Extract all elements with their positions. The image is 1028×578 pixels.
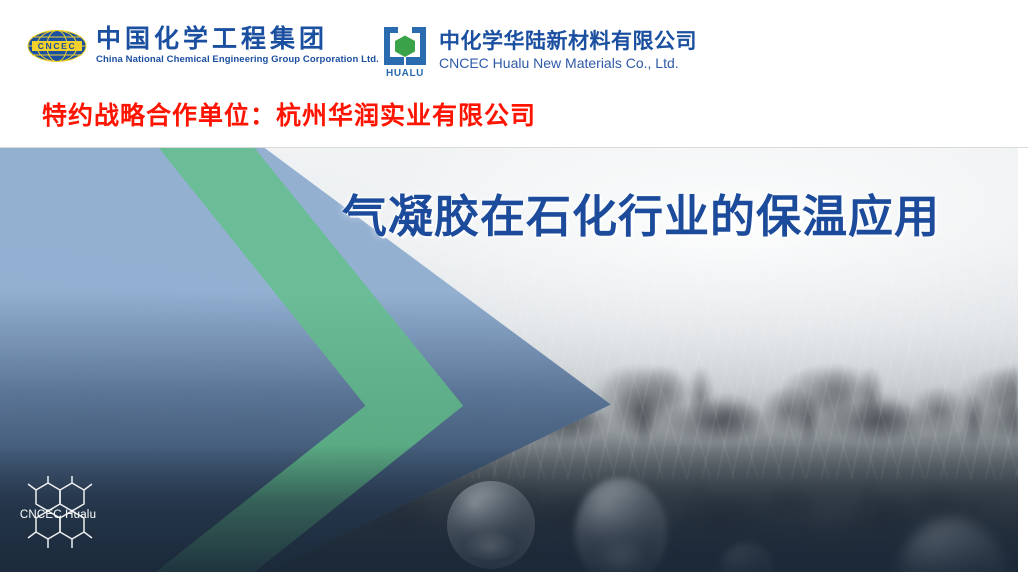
hualu-name-en: CNCEC Hualu New Materials Co., Ltd. xyxy=(439,55,697,73)
partner-banner-text: 特约战略合作单位：杭州华润实业有限公司 xyxy=(42,96,536,132)
hualu-bracket-hexagon-icon: HUALU xyxy=(380,24,430,79)
cncec-name-cn: 中国化学工程集团 xyxy=(96,26,379,52)
cncec-name-en: China National Chemical Engineering Grou… xyxy=(96,54,379,66)
hualu-name-cn: 中化学华陆新材料有限公司 xyxy=(439,30,697,53)
hualu-watermark: CNCEC Hualu xyxy=(6,476,110,556)
hualu-logo-text: 中化学华陆新材料有限公司 CNCEC Hualu New Materials C… xyxy=(439,30,697,73)
watermark-label: CNCEC Hualu xyxy=(6,509,110,521)
presentation-slide: CNCEC 中国化学工程集团 China National Chemical E… xyxy=(0,0,1028,578)
cncec-logo-text: 中国化学工程集团 China National Chemical Enginee… xyxy=(96,26,379,67)
slide-header: CNCEC 中国化学工程集团 China National Chemical E… xyxy=(0,0,1028,148)
water-droplet xyxy=(447,481,535,569)
hualu-logo: HUALU 中化学华陆新材料有限公司 CNCEC Hualu New Mater… xyxy=(380,24,697,79)
right-margin-strip xyxy=(1018,148,1028,578)
svg-text:HUALU: HUALU xyxy=(386,68,424,79)
cncec-globe-emblem-icon: CNCEC xyxy=(26,29,88,63)
cncec-group-logo: CNCEC 中国化学工程集团 China National Chemical E… xyxy=(26,26,379,67)
svg-text:CNCEC: CNCEC xyxy=(38,41,77,51)
slide-title: 气凝胶在石化行业的保温应用 xyxy=(342,180,940,245)
logo-row: CNCEC 中国化学工程集团 China National Chemical E… xyxy=(0,22,1028,84)
bottom-margin-strip xyxy=(0,572,1028,578)
